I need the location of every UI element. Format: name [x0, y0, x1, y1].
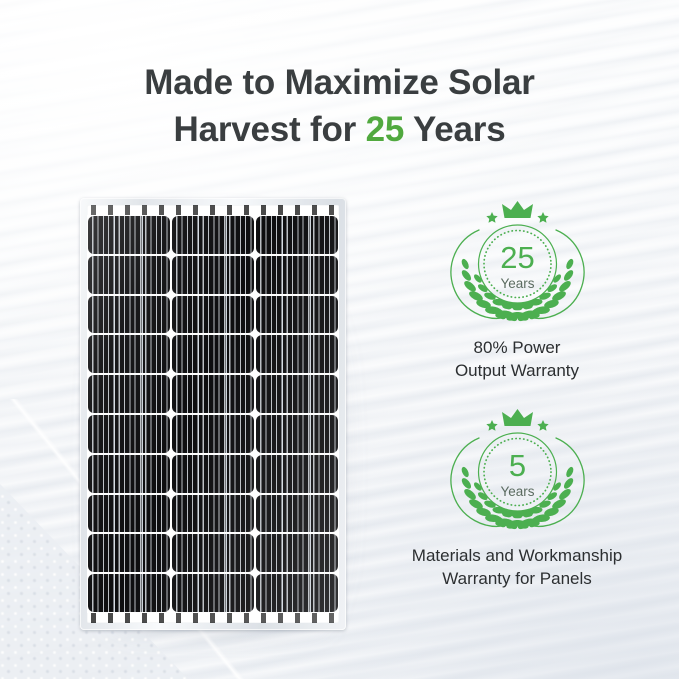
- solar-cell: [172, 534, 254, 572]
- star-icon-left: [486, 420, 497, 431]
- solar-cell: [172, 495, 254, 533]
- solar-cell: [88, 495, 170, 533]
- solar-panel-bottom-busbar: [87, 613, 339, 623]
- solar-panel-frame: [80, 198, 346, 630]
- badge-unit-text: Years: [500, 276, 534, 291]
- warranty-item-materials-workmanship: 5 Years Materials and Workmanship Warran…: [372, 406, 662, 590]
- solar-cell: [256, 296, 338, 334]
- warranty-item-power-output: 25 Years 80% Power Output Warranty: [372, 198, 662, 382]
- laurel-wreath-badge-25: 25 Years: [450, 198, 585, 326]
- solar-cell: [88, 415, 170, 453]
- solar-panel-laminate: [87, 205, 339, 623]
- solar-cell: [256, 375, 338, 413]
- page-title-line-2: Harvest for 25 Years: [0, 106, 679, 153]
- solar-cell: [88, 216, 170, 254]
- solar-panel-top-busbar: [87, 205, 339, 215]
- solar-cell: [88, 375, 170, 413]
- solar-cell: [256, 455, 338, 493]
- solar-cell: [256, 216, 338, 254]
- solar-cell-grid: [87, 215, 339, 613]
- solar-cell: [172, 216, 254, 254]
- solar-cell: [256, 495, 338, 533]
- crown-icon: [502, 201, 533, 218]
- solar-cell: [172, 296, 254, 334]
- solar-cell: [256, 574, 338, 612]
- badge-number-text: 25: [500, 240, 534, 275]
- solar-cell: [256, 256, 338, 294]
- star-icon-right: [537, 420, 548, 431]
- page-title-line-2-suffix: Years: [404, 110, 505, 149]
- solar-cell: [88, 534, 170, 572]
- solar-cell: [256, 415, 338, 453]
- badge-unit-text: Years: [500, 484, 534, 499]
- solar-cell: [172, 574, 254, 612]
- star-icon-right: [537, 212, 548, 223]
- page-title-line-1: Made to Maximize Solar: [0, 59, 679, 106]
- solar-cell: [88, 335, 170, 373]
- crown-icon: [502, 409, 533, 426]
- promo-banner: Made to Maximize Solar Harvest for 25 Ye…: [0, 0, 679, 679]
- solar-cell: [172, 335, 254, 373]
- laurel-wreath-badge-5: 5 Years: [450, 406, 585, 534]
- solar-cell: [172, 256, 254, 294]
- warranty-caption-power-output: 80% Power Output Warranty: [372, 336, 662, 382]
- solar-cell: [88, 574, 170, 612]
- solar-cell: [172, 415, 254, 453]
- solar-cell: [172, 455, 254, 493]
- solar-panel-image: [80, 198, 346, 630]
- page-title-years-accent: 25: [366, 110, 405, 149]
- badge-number-text: 5: [508, 448, 525, 483]
- solar-cell: [256, 335, 338, 373]
- solar-cell: [88, 256, 170, 294]
- warranty-caption-materials-workmanship: Materials and Workmanship Warranty for P…: [372, 544, 662, 590]
- page-title-line-2-prefix: Harvest for: [174, 110, 366, 149]
- solar-cell: [88, 455, 170, 493]
- solar-cell: [88, 296, 170, 334]
- solar-cell: [256, 534, 338, 572]
- page-title: Made to Maximize Solar Harvest for 25 Ye…: [0, 59, 679, 153]
- warranty-list: 25 Years 80% Power Output Warranty: [372, 198, 662, 614]
- star-icon-left: [486, 212, 497, 223]
- solar-cell: [172, 375, 254, 413]
